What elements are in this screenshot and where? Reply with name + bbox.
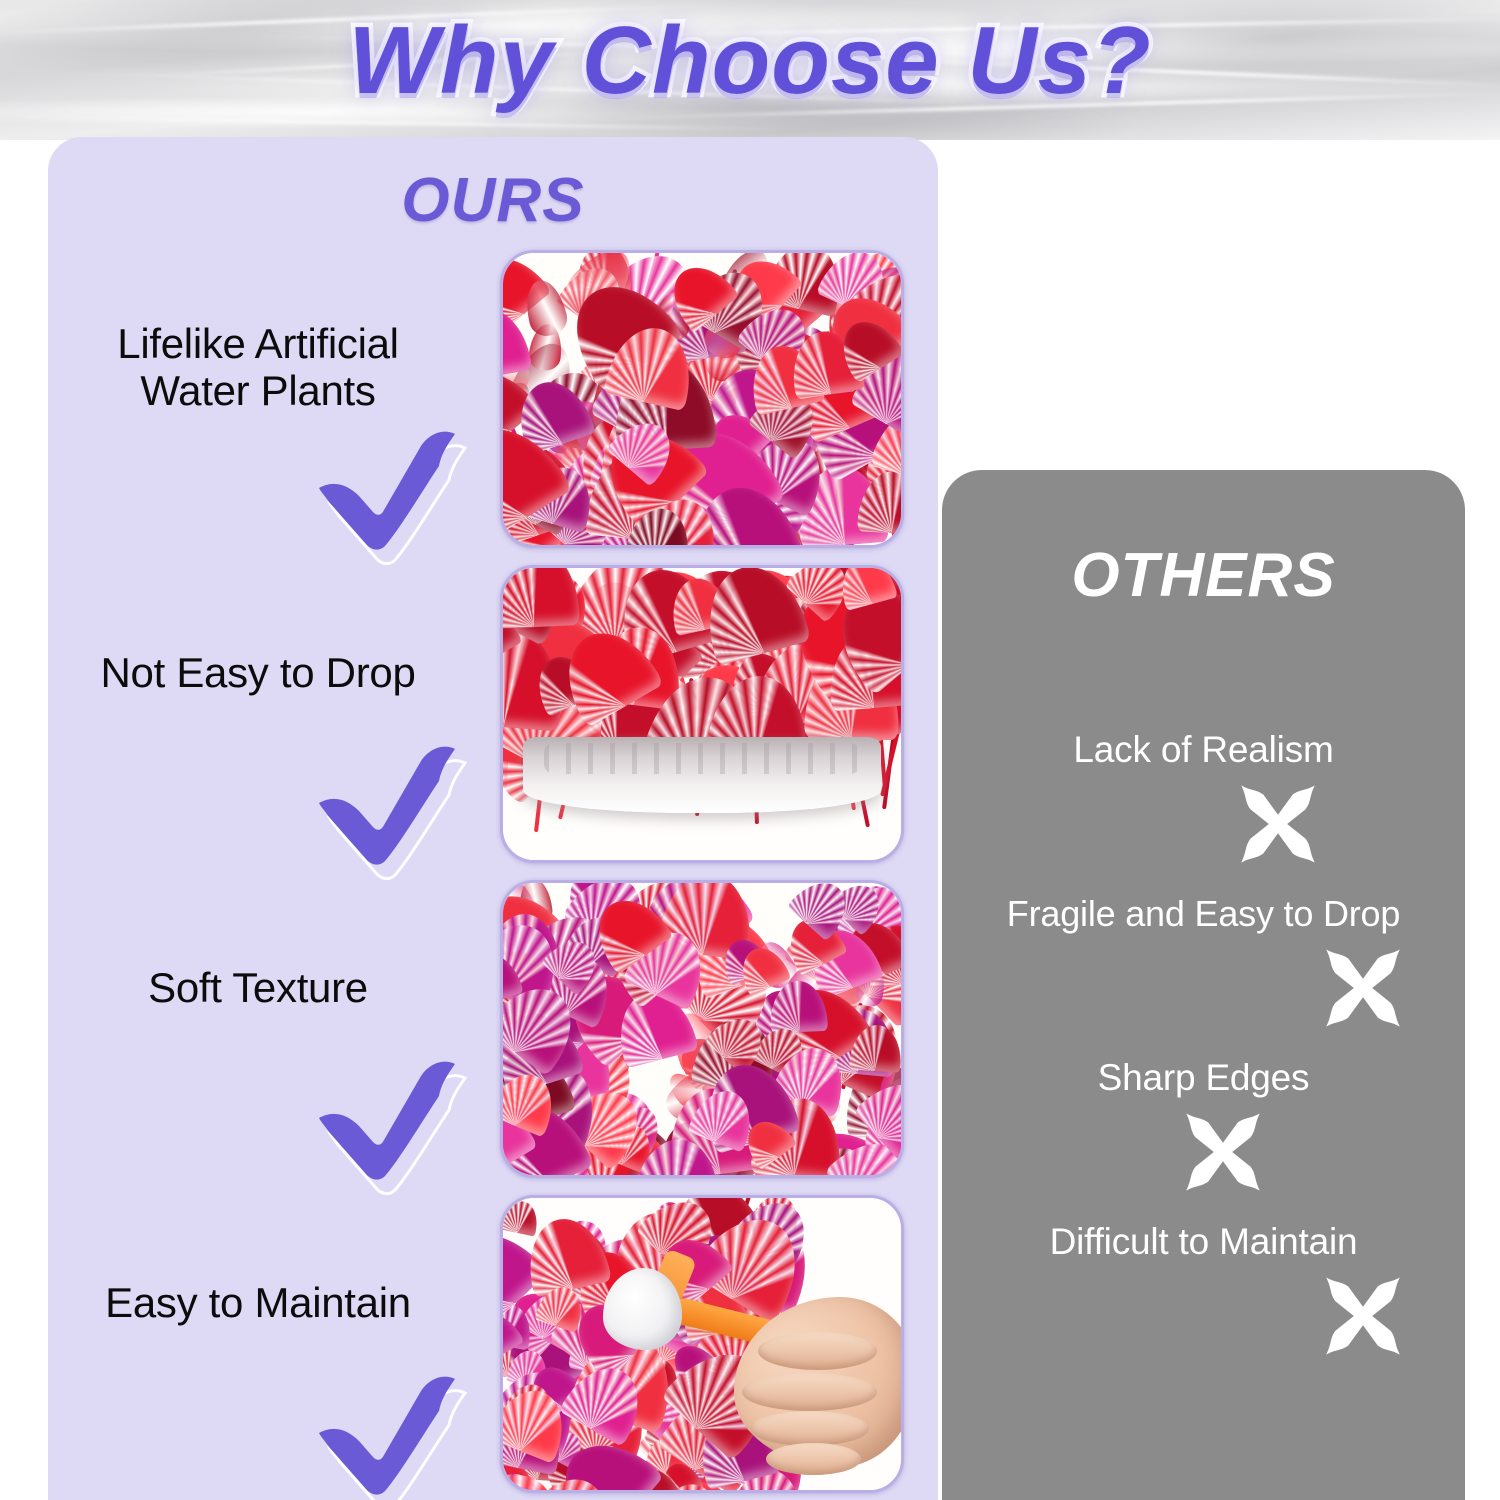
others-drawback-label: Sharp Edges (942, 1058, 1465, 1099)
cross-icon (1232, 778, 1324, 870)
others-drawback-row: Fragile and Easy to Drop (942, 894, 1465, 1076)
others-drawback-row: Lack of Realism (942, 730, 1465, 912)
others-drawback-label: Lack of Realism (942, 730, 1465, 771)
others-heading: OTHERS (942, 540, 1465, 611)
ours-feature-left: Not Easy to Drop (48, 565, 500, 870)
cross-icon (1317, 942, 1409, 1034)
cross-icon (1317, 1270, 1409, 1362)
others-drawback-label: Difficult to Maintain (942, 1222, 1465, 1263)
ours-heading: OURS (48, 165, 938, 236)
check-icon (303, 1377, 483, 1495)
finger (750, 1411, 869, 1446)
others-drawback-label: Fragile and Easy to Drop (942, 894, 1465, 934)
plant-leaf (503, 568, 579, 629)
ours-feature-photo (500, 565, 904, 863)
ours-feature-row: Easy to Maintain (48, 1195, 938, 1500)
ours-feature-label: Soft Texture (48, 964, 468, 1011)
ours-feature-row: Soft Texture (48, 880, 938, 1185)
ours-feature-row: Lifelike ArtificialWater Plants (48, 250, 938, 555)
ours-feature-photo (500, 250, 904, 548)
others-panel: OTHERS Lack of Realism Fragile and Easy … (942, 470, 1465, 1500)
ours-feature-left: Easy to Maintain (48, 1195, 500, 1500)
cross-icon (1177, 1106, 1269, 1198)
plant-leaf (503, 1198, 542, 1237)
ours-feature-photo (500, 880, 904, 1178)
finger (758, 1332, 877, 1370)
check-icon (303, 432, 483, 550)
others-drawback-row: Difficult to Maintain (942, 1222, 1465, 1404)
ours-feature-left: Lifelike ArtificialWater Plants (48, 250, 500, 555)
check-icon (303, 1062, 483, 1180)
others-drawback-row: Sharp Edges (942, 1058, 1465, 1240)
page-title: Why Choose Us? (0, 6, 1500, 116)
ours-feature-label: Easy to Maintain (48, 1279, 468, 1326)
ours-feature-row: Not Easy to Drop (48, 565, 938, 870)
finger (742, 1373, 877, 1411)
ours-feature-photo (500, 1195, 904, 1493)
check-icon (303, 747, 483, 865)
ours-feature-label: Lifelike ArtificialWater Plants (48, 320, 468, 414)
finger (766, 1443, 862, 1475)
plant-base (523, 737, 881, 813)
ours-panel: OURS Lifelike ArtificialWater Plants Not… (48, 137, 938, 1500)
ours-feature-label: Not Easy to Drop (48, 649, 468, 696)
ours-feature-left: Soft Texture (48, 880, 500, 1185)
